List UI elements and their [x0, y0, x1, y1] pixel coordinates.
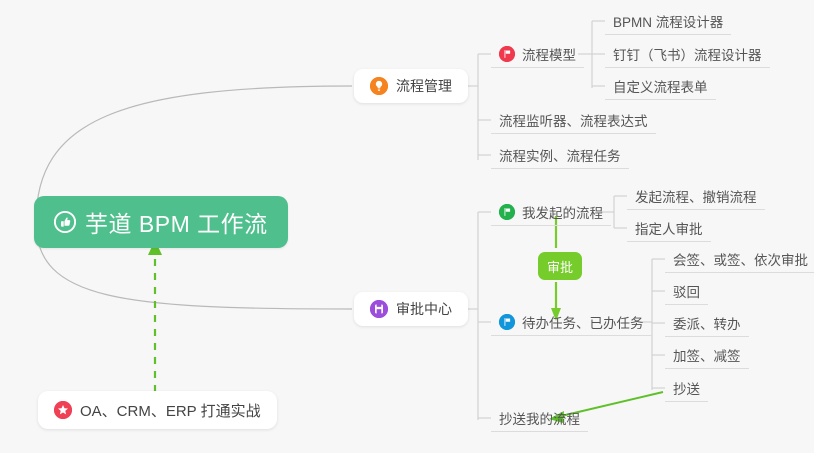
branch-label: 审批中心: [396, 299, 452, 319]
leaf-designated-approver[interactable]: 指定人审批: [627, 214, 711, 242]
lightbulb-icon: [370, 77, 388, 95]
leaf-dingtalk-feishu-designer[interactable]: 钉钉（飞书）流程设计器: [605, 40, 770, 68]
leaf-label: 委派、转办: [673, 313, 741, 333]
leaf-bpmn-designer[interactable]: BPMN 流程设计器: [605, 7, 731, 35]
leaf-delegate-transfer[interactable]: 委派、转办: [665, 309, 749, 337]
mindmap-canvas: 芋道 BPM 工作流 OA、CRM、ERP 打通实战 流程管理: [0, 0, 814, 453]
leaf-countersign-orsign-sequential[interactable]: 会签、或签、依次审批: [665, 245, 814, 273]
leaf-label: BPMN 流程设计器: [613, 11, 723, 31]
leaf-label: 流程实例、流程任务: [499, 145, 621, 165]
leaf-label: 会签、或签、依次审批: [673, 249, 808, 269]
star-icon: [54, 401, 72, 419]
leaf-process-listener-expression[interactable]: 流程监听器、流程表达式: [491, 106, 656, 134]
leaf-carbon-copy[interactable]: 抄送: [665, 374, 708, 402]
flag-icon-green: [499, 204, 515, 220]
leaf-cc-to-me-process[interactable]: 抄送我的流程: [491, 404, 588, 432]
leaf-label: 自定义流程表单: [613, 76, 708, 96]
approval-tag[interactable]: 审批: [538, 252, 582, 280]
leaf-todo-done-tasks[interactable]: 待办任务、已办任务: [491, 308, 652, 336]
approval-tag-label: 审批: [547, 257, 573, 276]
leaf-label: 待办任务、已办任务: [522, 312, 644, 332]
branch-label: 流程管理: [396, 76, 452, 96]
leaf-label: 驳回: [673, 281, 700, 301]
leaf-label: 流程监听器、流程表达式: [499, 110, 648, 130]
leaf-label: 指定人审批: [635, 218, 703, 238]
branch-node-process-management[interactable]: 流程管理: [354, 69, 468, 103]
thumbs-up-icon: [54, 211, 76, 233]
clipboard-icon: [370, 300, 388, 318]
root-label: 芋道 BPM 工作流: [85, 205, 268, 239]
leaf-label: 抄送我的流程: [499, 408, 580, 428]
flag-icon-blue: [499, 314, 515, 330]
branch-node-approval-center[interactable]: 审批中心: [354, 292, 468, 326]
root-node[interactable]: 芋道 BPM 工作流: [34, 196, 288, 248]
leaf-label: 钉钉（飞书）流程设计器: [613, 44, 762, 64]
flag-icon-red: [499, 46, 515, 62]
leaf-label: 抄送: [673, 378, 700, 398]
leaf-label: 发起流程、撤销流程: [635, 186, 757, 206]
leaf-add-remove-sign[interactable]: 加签、减签: [665, 341, 749, 369]
leaf-process-model[interactable]: 流程模型: [491, 40, 584, 68]
leaf-label: 流程模型: [522, 44, 576, 64]
leaf-my-initiated-process[interactable]: 我发起的流程: [491, 198, 611, 226]
leaf-start-cancel-process[interactable]: 发起流程、撤销流程: [627, 182, 765, 210]
leaf-custom-process-form[interactable]: 自定义流程表单: [605, 72, 716, 100]
note-node[interactable]: OA、CRM、ERP 打通实战: [38, 391, 277, 429]
leaf-label: 我发起的流程: [522, 202, 603, 222]
leaf-label: 加签、减签: [673, 345, 741, 365]
leaf-process-instance-task[interactable]: 流程实例、流程任务: [491, 141, 629, 169]
leaf-reject[interactable]: 驳回: [665, 277, 708, 305]
note-label: OA、CRM、ERP 打通实战: [80, 400, 261, 421]
